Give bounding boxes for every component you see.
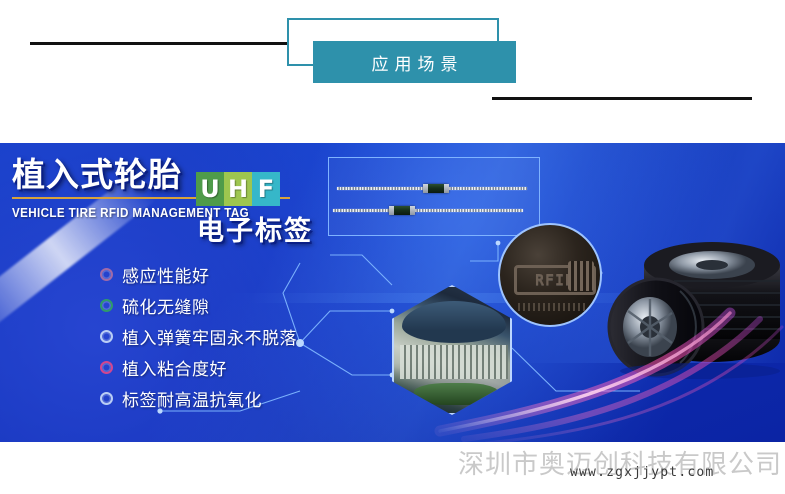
bullet-ring-icon	[100, 299, 113, 312]
bullet-ring-icon	[100, 361, 113, 374]
tag-showcase-box	[328, 157, 540, 236]
uhf-letter-h: H	[224, 172, 252, 206]
bullet-ring-icon	[100, 392, 113, 405]
uhf-letter-u: U	[196, 172, 224, 206]
bullet-ring-icon	[100, 268, 113, 281]
section-title-text: 应用场景	[366, 50, 464, 75]
watermark-url: www.zgxjjypt.com	[570, 465, 714, 480]
feature-label: 植入弹簧牢固永不脱落	[122, 324, 297, 349]
spring-tag-lower	[333, 206, 523, 215]
feature-item: 植入弹簧牢固永不脱落	[100, 322, 297, 351]
feature-label: 硫化无缝隙	[122, 293, 210, 318]
feature-item: 标签耐高温抗氧化	[100, 384, 297, 413]
pink-light-swoosh	[430, 293, 785, 442]
section-title-plate: 应用场景	[313, 41, 516, 83]
header-rule-left	[30, 42, 288, 45]
uhf-badge: U H F	[196, 172, 280, 206]
feature-label: 植入粘合度好	[122, 355, 227, 380]
feature-item: 植入粘合度好	[100, 353, 297, 382]
feature-item: 硫化无缝隙	[100, 291, 297, 320]
tire-ribs	[568, 261, 594, 291]
feature-item: 感应性能好	[100, 260, 297, 289]
product-banner: 植入式轮胎 VEHICLE TIRE RFID MANAGEMENT TAG U…	[0, 143, 785, 442]
bullet-ring-icon	[100, 330, 113, 343]
feature-list: 感应性能好 硫化无缝隙 植入弹簧牢固永不脱落 植入粘合度好 标签耐高温抗氧化	[100, 260, 297, 415]
header-rule-right	[492, 97, 752, 100]
banner-secondary-label: 电子标签	[197, 209, 313, 248]
uhf-letter-f: F	[252, 172, 280, 206]
feature-label: 感应性能好	[122, 262, 210, 287]
spring-tag-upper	[337, 184, 527, 193]
page-header: 应用场景	[0, 0, 785, 143]
feature-label: 标签耐高温抗氧化	[122, 386, 262, 411]
